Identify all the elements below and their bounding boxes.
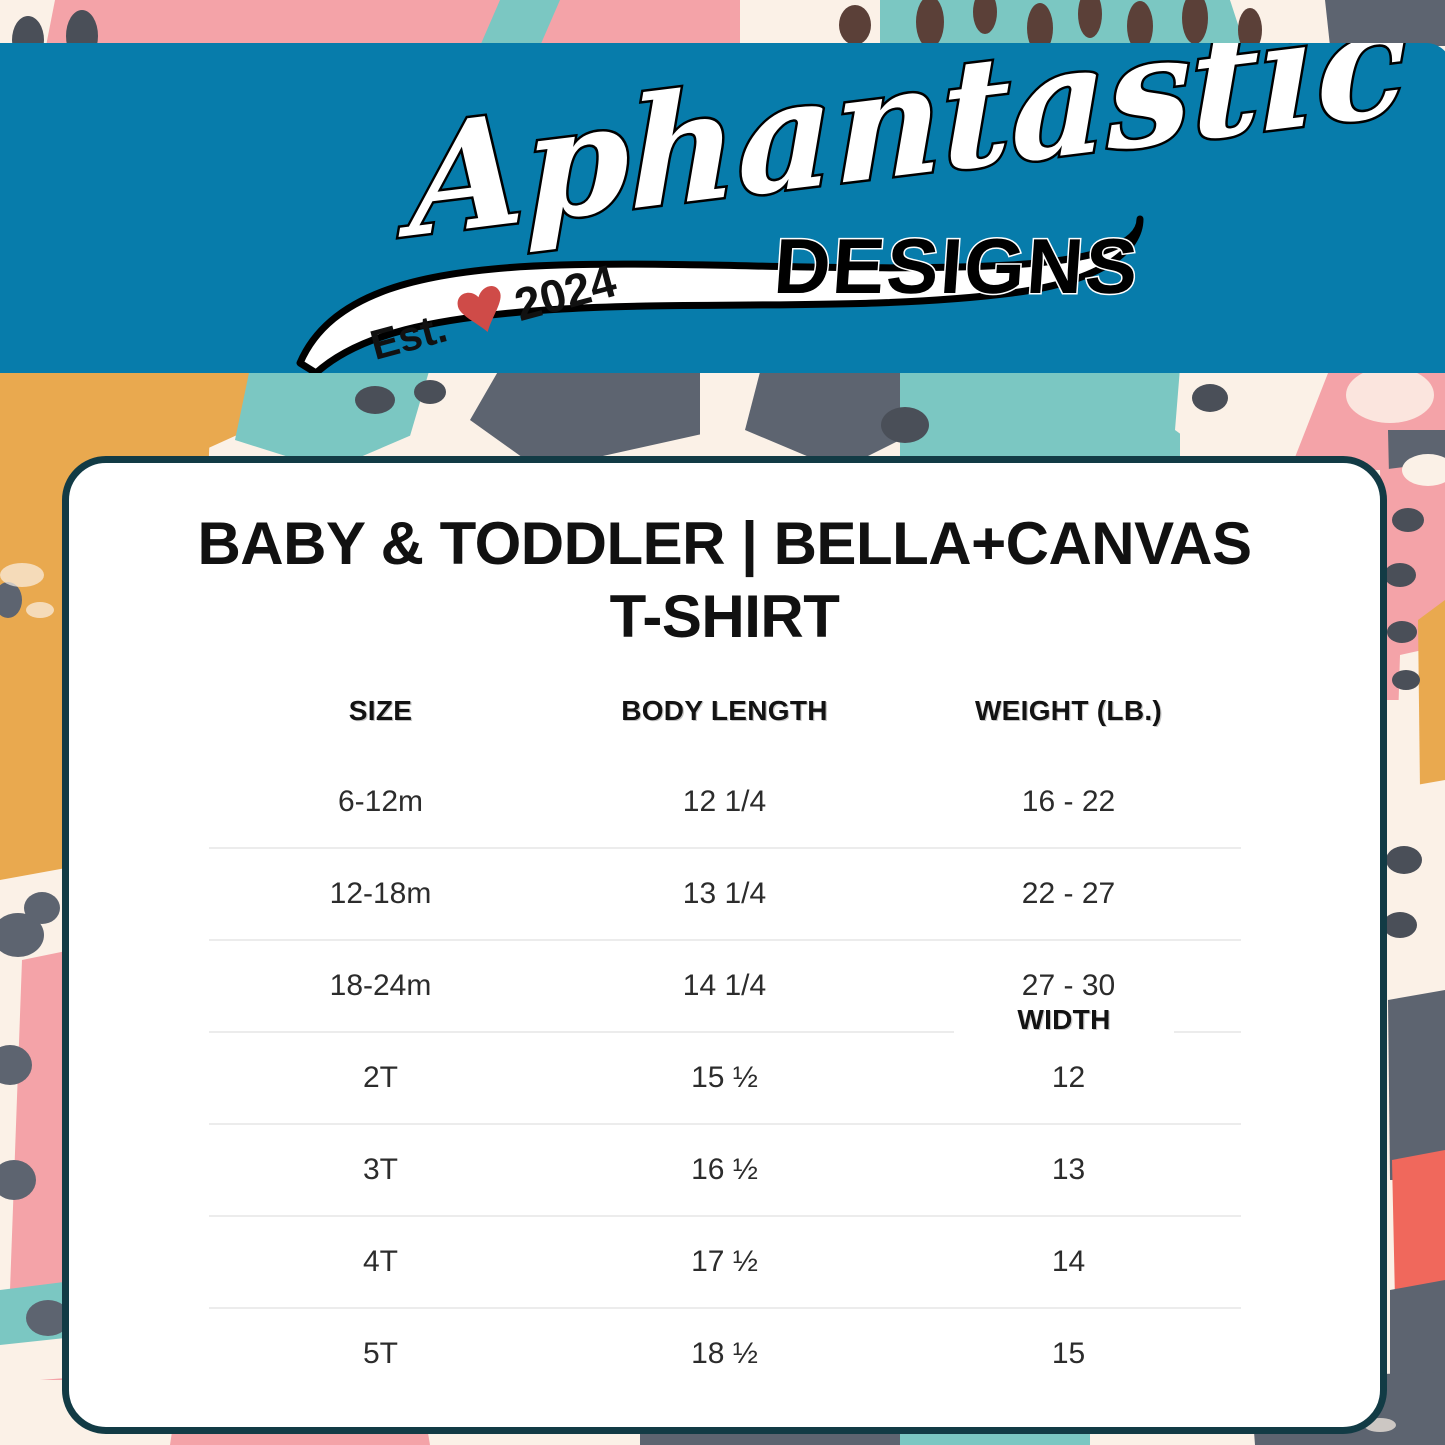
cell-size: 4T [209, 1216, 553, 1308]
cell-size: 2T [209, 1032, 553, 1124]
cell-body-length: 16 ½ [553, 1124, 897, 1216]
cell-body-length: 12 1/4 [553, 757, 897, 848]
cell-size: 6-12m [209, 757, 553, 848]
column-header-weight: WEIGHT (LB.) [897, 689, 1241, 757]
cell-size: 5T [209, 1308, 553, 1399]
table-row: 2T 15 ½ 12 [209, 1032, 1241, 1124]
cell-size: 12-18m [209, 848, 553, 940]
cell-body-length: 14 1/4 [553, 940, 897, 1032]
table-row: 5T 18 ½ 15 [209, 1308, 1241, 1399]
table-header: SIZE BODY LENGTH WEIGHT (LB.) [209, 689, 1241, 757]
table-row: 3T 16 ½ 13 [209, 1124, 1241, 1216]
cell-third: 16 - 22 [897, 757, 1241, 848]
cell-body-length: 13 1/4 [553, 848, 897, 940]
table-row: 6-12m 12 1/4 16 - 22 [209, 757, 1241, 848]
table-body: 6-12m 12 1/4 16 - 22 12-18m 13 1/4 22 - … [209, 757, 1241, 1399]
cell-third: 13 [897, 1124, 1241, 1216]
table-row: 12-18m 13 1/4 22 - 27 [209, 848, 1241, 940]
size-chart-card: BABY & TODDLER | BELLA+CANVAS T-SHIRT SI… [62, 456, 1387, 1434]
cell-third: 15 [897, 1308, 1241, 1399]
column-header-body-length: BODY LENGTH [553, 689, 897, 757]
cell-body-length: 17 ½ [553, 1216, 897, 1308]
column-header-width: WIDTH [954, 1002, 1174, 1038]
table-header-row: SIZE BODY LENGTH WEIGHT (LB.) [209, 689, 1241, 757]
cell-third: 12 [897, 1032, 1241, 1124]
brand-logo: Aphantastic DESIGNS Est. 2024 [0, 43, 1445, 373]
size-table-holder: SIZE BODY LENGTH WEIGHT (LB.) 6-12m 12 1… [69, 689, 1380, 1399]
cell-size: 18-24m [209, 940, 553, 1032]
column-header-size: SIZE [209, 689, 553, 757]
cell-body-length: 18 ½ [553, 1308, 897, 1399]
brand-subtitle-text: DESIGNS [771, 222, 1142, 310]
cell-third: 14 [897, 1216, 1241, 1308]
table-row: 4T 17 ½ 14 [209, 1216, 1241, 1308]
size-chart-table: SIZE BODY LENGTH WEIGHT (LB.) 6-12m 12 1… [209, 689, 1241, 1399]
cell-third: 22 - 27 [897, 848, 1241, 940]
page-title: BABY & TODDLER | BELLA+CANVAS T-SHIRT [69, 497, 1380, 653]
brand-banner: Aphantastic DESIGNS Est. 2024 [0, 43, 1445, 373]
cell-body-length: 15 ½ [553, 1032, 897, 1124]
cell-size: 3T [209, 1124, 553, 1216]
